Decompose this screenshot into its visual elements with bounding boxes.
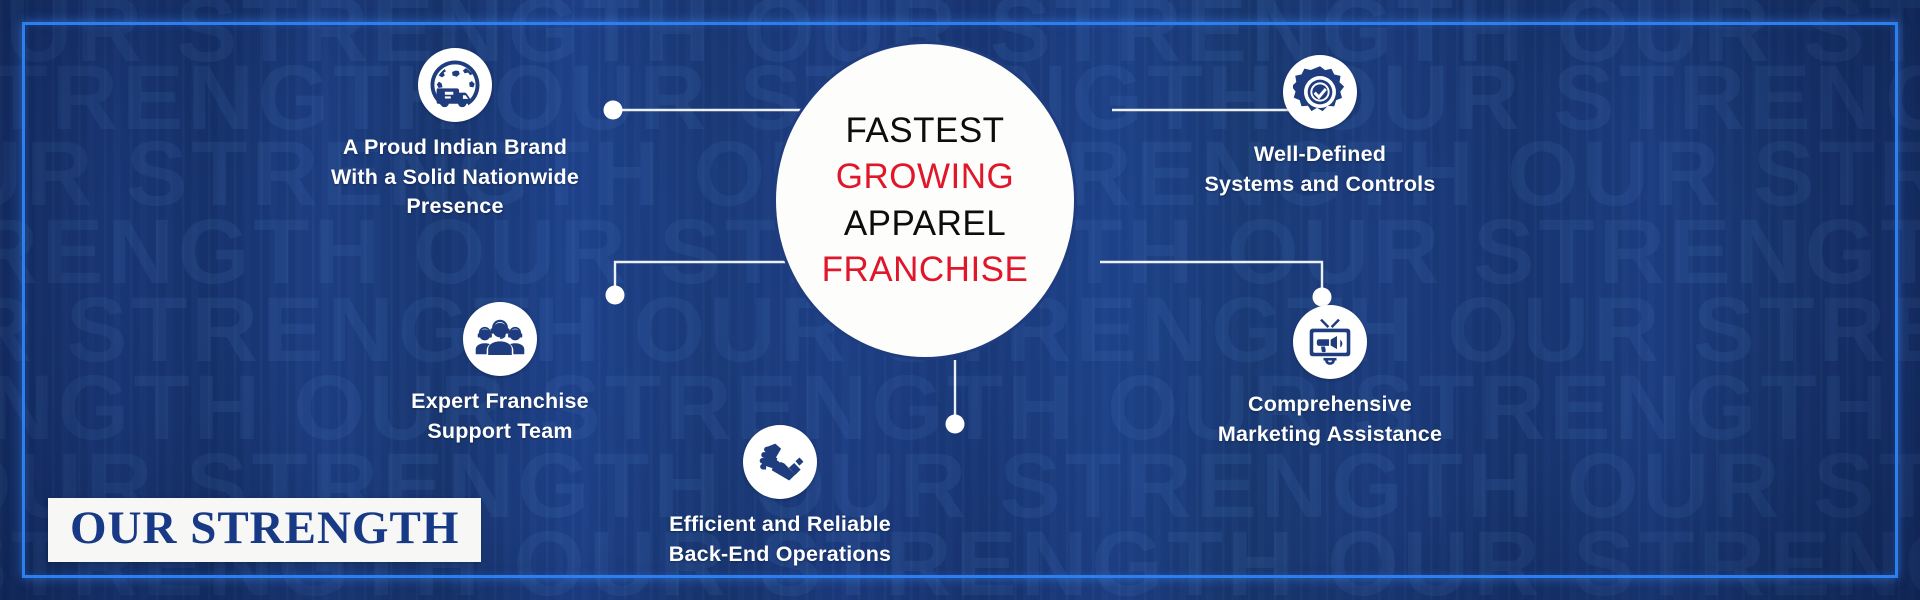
caption-line: Back-End Operations: [600, 540, 960, 570]
caption-line: Expert Franchise: [320, 387, 680, 417]
our-strength-badge: OUR STRENGTH: [48, 498, 481, 562]
gear-check-icon: [1283, 55, 1357, 129]
node-caption: Efficient and Reliable Back-End Operatio…: [600, 510, 960, 569]
caption-line: Efficient and Reliable: [600, 510, 960, 540]
node-proud-indian-brand[interactable]: A Proud Indian Brand With a Solid Nation…: [275, 48, 635, 222]
node-caption: Well-Defined Systems and Controls: [1140, 140, 1500, 199]
caption-line: Well-Defined: [1140, 140, 1500, 170]
megaphone-screen-icon: [1293, 305, 1367, 379]
caption-line: Presence: [275, 192, 635, 222]
caption-line: Comprehensive: [1150, 390, 1510, 420]
node-marketing-assistance[interactable]: Comprehensive Marketing Assistance: [1150, 305, 1510, 449]
caption-line: Systems and Controls: [1140, 170, 1500, 200]
support-team-icon: [463, 302, 537, 376]
handshake-icon: [743, 425, 817, 499]
hub-line-apparel: APPAREL: [844, 201, 1006, 247]
globe-truck-icon: [418, 48, 492, 122]
hub-line-franchise: FRANCHISE: [822, 247, 1029, 293]
node-caption: Comprehensive Marketing Assistance: [1150, 390, 1510, 449]
node-systems-and-controls[interactable]: Well-Defined Systems and Controls: [1140, 55, 1500, 199]
node-caption: A Proud Indian Brand With a Solid Nation…: [275, 133, 635, 222]
caption-line: A Proud Indian Brand: [275, 133, 635, 163]
our-strength-label: OUR STRENGTH: [70, 505, 459, 553]
banner-canvas: OUR STRENGTH OUR STRENGTH OUR STRENGTH O…: [0, 0, 1920, 600]
watermark-row: OUR STRENGTH OUR STRENGTH OUR STRENGTH O…: [0, 362, 1920, 454]
hub-line-fastest: FASTEST: [845, 108, 1004, 154]
caption-line: Marketing Assistance: [1150, 420, 1510, 450]
caption-line: With a Solid Nationwide: [275, 163, 635, 193]
hub-circle: FASTEST GROWING APPAREL FRANCHISE: [780, 48, 1070, 353]
node-back-end-operations[interactable]: Efficient and Reliable Back-End Operatio…: [600, 425, 960, 569]
hub-line-growing: GROWING: [836, 154, 1014, 200]
